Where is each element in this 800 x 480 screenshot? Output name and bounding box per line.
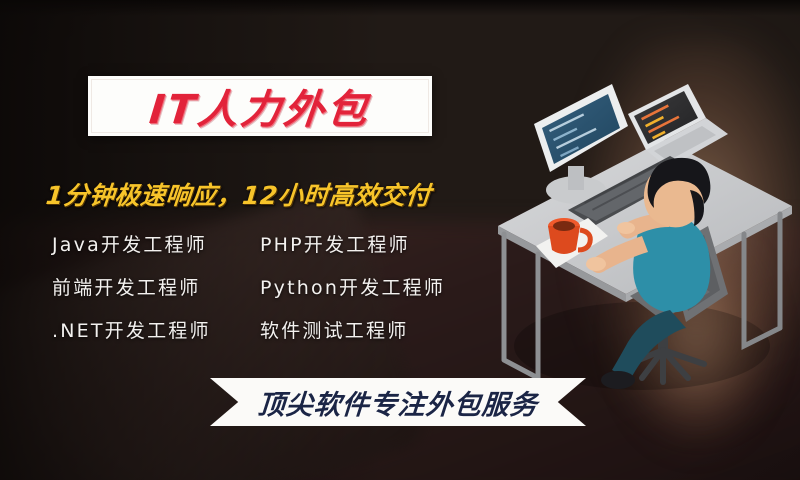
title-banner: IT人力外包 (88, 76, 432, 136)
job-title-grid: Java开发工程师 PHP开发工程师 前端开发工程师 Python开发工程师 .… (52, 222, 492, 351)
job-item-frontend: 前端开发工程师 (52, 273, 260, 300)
mug-coffee (553, 221, 575, 231)
job-item-dotnet: .NET开发工程师 (52, 316, 260, 343)
bottom-ribbon: 顶尖软件专注外包服务 (210, 378, 586, 426)
job-item-python: Python开发工程师 (260, 273, 488, 300)
title-banner-inner: IT人力外包 (91, 79, 429, 133)
subtitle-text: 1分钟极速响应，12小时高效交付 (44, 176, 493, 212)
background-top-shade (0, 0, 800, 16)
person-hand-right (617, 222, 635, 234)
job-item-qa: 软件测试工程师 (260, 316, 488, 343)
person-hand-left (586, 257, 606, 271)
page-title: IT人力外包 (147, 77, 373, 135)
monitor-stand-neck (568, 166, 584, 190)
developer-illustration (492, 78, 798, 408)
job-item-php: PHP开发工程师 (260, 230, 488, 257)
ribbon-label: 顶尖软件专注外包服务 (208, 378, 587, 426)
poster-canvas: IT人力外包 1分钟极速响应，12小时高效交付 Java开发工程师 PHP开发工… (0, 0, 800, 480)
person-shoe (601, 371, 635, 389)
job-item-java: Java开发工程师 (52, 230, 260, 257)
